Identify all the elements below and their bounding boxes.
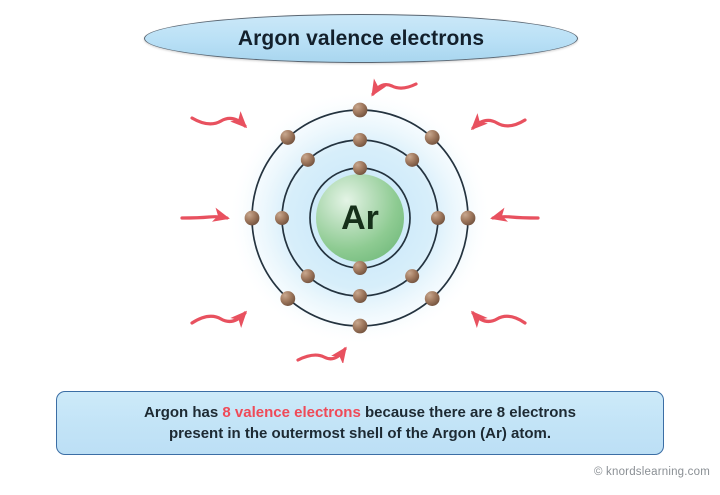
nucleus-symbol-label: Ar (341, 199, 379, 237)
electron (353, 261, 367, 275)
title-ellipse: Argon valence electrons (144, 14, 578, 63)
pointer-arrow-bottom-right (473, 313, 525, 323)
electron (275, 211, 289, 225)
electron (431, 211, 445, 225)
pointer-arrow-top-left (192, 118, 245, 126)
diagram-page: Argon valence electrons (0, 0, 720, 495)
pointer-arrow-top-right (473, 120, 525, 128)
footer-credit: © knordslearning.com (594, 466, 710, 478)
caption-box: Argon has 8 valence electrons because th… (56, 391, 664, 455)
electron (301, 153, 315, 167)
bohr-model-diagram: Ar (180, 78, 540, 363)
electron (353, 161, 367, 175)
caption-line-1: Argon has 8 valence electrons because th… (144, 402, 576, 423)
atom-svg: Ar (180, 78, 540, 363)
valence-electron (353, 103, 368, 118)
pointer-arrow-bottom (298, 349, 345, 360)
valence-electron (425, 130, 440, 145)
caption-line-2: present in the outermost shell of the Ar… (169, 423, 551, 444)
electron (301, 269, 315, 283)
valence-electron (280, 291, 295, 306)
caption-highlight: 8 valence electrons (222, 404, 360, 421)
electron (353, 289, 367, 303)
electron (405, 153, 419, 167)
valence-electron (280, 130, 295, 145)
caption-text-before: Argon has (144, 404, 222, 421)
page-title: Argon valence electrons (238, 27, 484, 51)
caption-text-after: because there are 8 electrons (361, 404, 576, 421)
electron (353, 133, 367, 147)
pointer-arrow-bottom-left (192, 313, 245, 323)
valence-electron (353, 319, 368, 334)
nucleus: Ar (316, 174, 404, 262)
valence-electron (461, 211, 476, 226)
valence-electron (425, 291, 440, 306)
electron (405, 269, 419, 283)
valence-electron (245, 211, 260, 226)
pointer-arrow-left (182, 217, 227, 218)
pointer-arrow-right (493, 217, 538, 218)
